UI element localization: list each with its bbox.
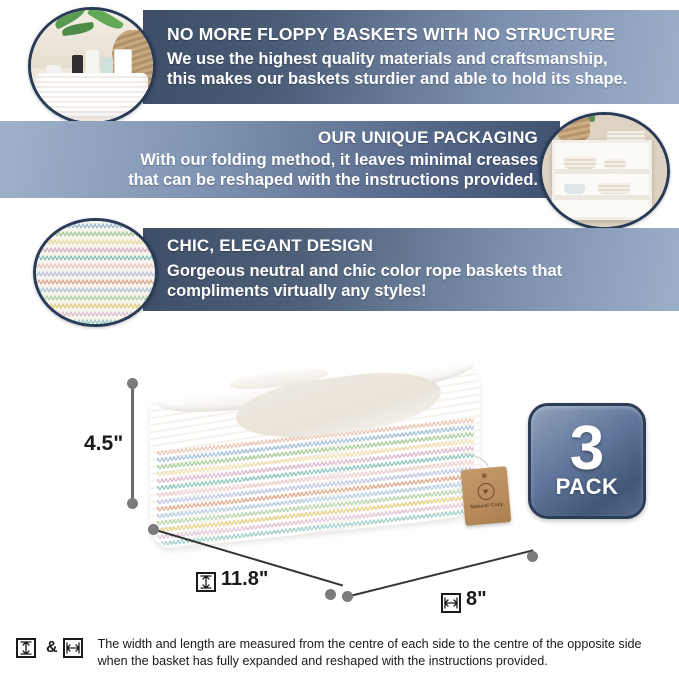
width-dimension-dot-start (342, 591, 353, 602)
photo-basket-with-toiletries (28, 7, 156, 125)
rope-stitch-row (33, 223, 158, 229)
disclaimer-text: The width and length are measured from t… (98, 636, 642, 670)
height-dimension-label: 4.5" (84, 432, 123, 456)
width-dimension-value: 8" (466, 588, 487, 610)
length-dimension-value: 11.8" (221, 568, 268, 590)
width-dimension-label: 8" (441, 588, 487, 613)
banner-body-line-1: Gorgeous neutral and chic color rope bas… (167, 261, 663, 281)
banner-body-line-1: With our folding method, it leaves minim… (140, 150, 538, 170)
rope-stitch-row (33, 247, 158, 253)
photo-content (542, 115, 667, 227)
pack-count-badge: 3 PACK (528, 403, 646, 519)
rope-stitch-row (33, 311, 158, 317)
feature-banner-design: CHIC, ELEGANT DESIGN Gorgeous neutral an… (143, 228, 679, 311)
pack-count-unit: PACK (556, 474, 619, 500)
rope-stitch-row (33, 295, 158, 301)
height-arrow-icon (16, 638, 36, 658)
brand-hang-tag: Natural Cozy (461, 466, 512, 526)
height-dimension-dot-bottom (127, 498, 138, 509)
banner-headline: NO MORE FLOPPY BASKETS WITH NO STRUCTURE (167, 25, 663, 43)
rope-stitch-row (33, 239, 158, 245)
rope-stitch-row (33, 271, 158, 277)
photo-content (36, 221, 155, 324)
rope-stitch-row (33, 231, 158, 237)
height-arrow-icon (196, 572, 216, 592)
banner-body-line-2: this makes our baskets sturdier and able… (167, 69, 663, 89)
disclaimer-line-1: The width and length are measured from t… (98, 637, 642, 651)
brand-name: Natural Cozy (470, 502, 503, 511)
rope-stitch-row (33, 279, 158, 285)
rope-stitch-row (33, 263, 158, 269)
length-dimension-dot-end (325, 589, 336, 600)
banner-body-line-2: compliments virtually any styles! (167, 281, 663, 301)
basket-in-photo (36, 73, 148, 118)
photo-rope-texture-closeup (33, 218, 158, 327)
width-arrow-icon (63, 638, 83, 658)
banner-body-line-2: that can be reshaped with the instructio… (128, 170, 538, 190)
banner-headline: CHIC, ELEGANT DESIGN (167, 237, 663, 255)
height-dimension-line (131, 386, 134, 504)
heart-in-circle-icon (476, 482, 494, 500)
shelf-unit (552, 140, 652, 221)
photo-baskets-on-shelf (539, 112, 670, 230)
measurement-disclaimer: & The width and length are measured from… (0, 628, 679, 673)
banner-body-line-1: We use the highest quality materials and… (167, 49, 663, 69)
length-dimension-label: 11.8" (196, 568, 268, 592)
length-dimension-dot-start (148, 524, 159, 535)
pack-count-number: 3 (570, 422, 604, 477)
photo-content (31, 10, 153, 122)
feature-banner-durability: NO MORE FLOPPY BASKETS WITH NO STRUCTURE… (143, 10, 679, 104)
rope-stitch-row (33, 303, 158, 309)
infographic-canvas: NO MORE FLOPPY BASKETS WITH NO STRUCTURE… (0, 0, 679, 673)
product-basket (150, 367, 480, 537)
disclaimer-icons: & (16, 636, 88, 658)
ampersand: & (46, 639, 58, 657)
banner-headline: OUR UNIQUE PACKAGING (318, 129, 538, 147)
tag-hole (482, 473, 487, 478)
height-dimension-dot-top (127, 378, 138, 389)
width-arrow-icon (441, 593, 461, 613)
rope-stitch-row (33, 218, 158, 221)
feature-banner-packaging: OUR UNIQUE PACKAGING With our folding me… (0, 121, 560, 198)
rope-stitch-row (33, 255, 158, 261)
width-dimension-dot-end (527, 551, 538, 562)
disclaimer-line-2: when the basket has fully expanded and r… (98, 654, 548, 668)
rope-stitch-row (33, 287, 158, 293)
plant-pot-icon (557, 117, 590, 142)
